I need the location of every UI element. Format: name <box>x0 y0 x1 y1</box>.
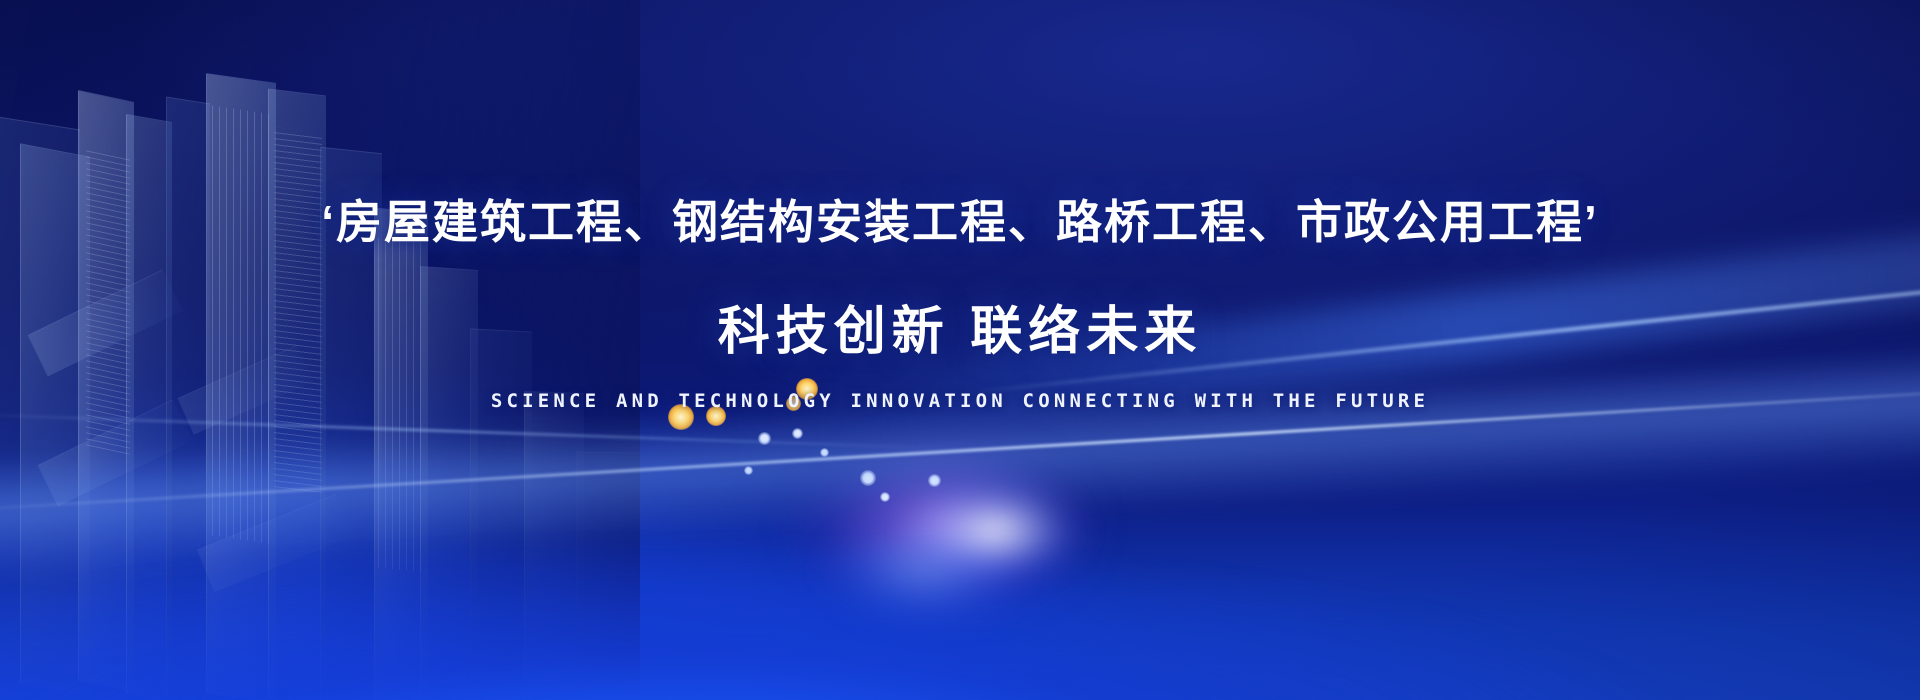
banner-english-subtitle: SCIENCE AND TECHNOLOGY INNOVATION CONNEC… <box>491 390 1429 412</box>
hero-banner: ‘房屋建筑工程、钢结构安装工程、路桥工程、市政公用工程’ 科技创新 联络未来 S… <box>0 0 1920 700</box>
banner-headline: ‘房屋建筑工程、钢结构安装工程、路桥工程、市政公用工程’ <box>321 196 1599 249</box>
banner-slogan: 科技创新 联络未来 <box>718 289 1202 364</box>
banner-text-block: ‘房屋建筑工程、钢结构安装工程、路桥工程、市政公用工程’ 科技创新 联络未来 S… <box>0 0 1920 700</box>
